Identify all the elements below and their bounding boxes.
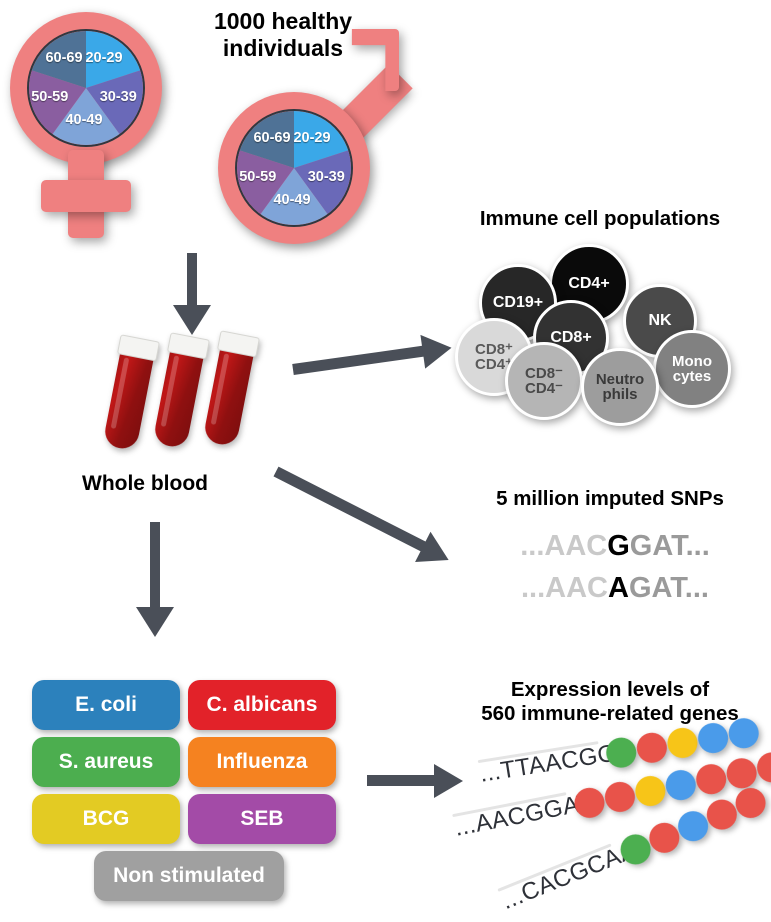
- whole-blood-tubes: [98, 330, 298, 465]
- strand-bead: [633, 773, 668, 808]
- immune-cell-neutrophils: Neutro phils: [581, 348, 659, 426]
- female-pie-label-20-29: 20-29: [85, 50, 122, 66]
- stimulus-e-coli[interactable]: E. coli: [32, 680, 180, 730]
- female-pie-label-60-69: 60-69: [45, 50, 82, 66]
- arrow-blood-to-immune-shaft: [292, 345, 426, 375]
- strand-sequence-text: ...AACGGAT: [452, 789, 594, 843]
- stimulus-influenza[interactable]: Influenza: [188, 737, 336, 787]
- stimulus-s-aureus[interactable]: S. aureus: [32, 737, 180, 787]
- snp-sequence-block: ...AACGGAT... ...AACAGAT...: [470, 530, 760, 620]
- snp-variant-allele: A: [608, 572, 629, 604]
- male-pie-label-50-59: 50-59: [239, 169, 276, 185]
- blood-tube: [102, 335, 157, 451]
- snp-sequence-prefix: ...AAC: [520, 530, 607, 562]
- stimuli-panel: E. coliC. albicansS. aureusInfluenzaBCGS…: [32, 680, 342, 890]
- blood-tube: [152, 333, 207, 449]
- male-pie-label-60-69: 60-69: [253, 130, 290, 146]
- blood-tube-body: [102, 349, 154, 452]
- strand-bead: [727, 716, 761, 750]
- male-age-pie-chart: [235, 109, 353, 227]
- arrow-stimuli-to-expression: [367, 775, 462, 786]
- stimulus-c-albicans[interactable]: C. albicans: [188, 680, 336, 730]
- strand-bead: [696, 721, 730, 755]
- immune-cell-monocytes: Mono cytes: [653, 330, 731, 408]
- blood-tube-body: [202, 345, 254, 448]
- male-pie-label-30-39: 30-39: [308, 169, 345, 185]
- stimulus-bcg[interactable]: BCG: [32, 794, 180, 844]
- female-pie-label-50-59: 50-59: [31, 89, 68, 105]
- arrow-stimuli-to-expression-shaft: [367, 775, 437, 786]
- strand-sequence-text: ...CACGCAA: [498, 837, 641, 916]
- blood-tube-body: [152, 347, 204, 450]
- immune-cell-cd8-cd4-: CD8⁻ CD4⁻: [505, 342, 583, 420]
- arrow-blood-to-immune-head: [420, 330, 453, 368]
- male-pie-label-20-29: 20-29: [293, 130, 330, 146]
- strand-bead: [694, 762, 729, 797]
- snp-sequence-prefix: ...AAC: [521, 572, 608, 604]
- snp-sequence-suffix: GAT...: [630, 530, 710, 562]
- female-age-pie-chart: [27, 29, 145, 147]
- arrow-blood-to-stimuli-head: [136, 607, 174, 637]
- snp-sequence-row: ...AACGGAT...: [470, 530, 760, 563]
- female-symbol-crossbar: [41, 180, 131, 212]
- strand-bead: [635, 731, 669, 765]
- study-design-diagram: 1000 healthy individuals 20-2930-3940-49…: [0, 0, 771, 922]
- arrow-blood-to-stimuli-shaft: [150, 522, 160, 612]
- male-symbol-arrowhead: [337, 29, 399, 91]
- strand-bead: [663, 768, 698, 803]
- snp-sequence-row: ...AACAGAT...: [470, 572, 760, 605]
- stimulus-seb[interactable]: SEB: [188, 794, 336, 844]
- arrow-blood-to-snps: [274, 467, 453, 565]
- snp-variant-allele: G: [607, 530, 630, 562]
- stimulus-non-stimulated[interactable]: Non stimulated: [94, 851, 284, 901]
- female-pie-label-40-49: 40-49: [65, 112, 102, 128]
- snp-sequence-suffix: GAT...: [629, 572, 709, 604]
- arrow-individuals-to-blood-shaft: [187, 253, 197, 310]
- strand-sequence-text: ...TTAACGG: [478, 740, 619, 789]
- arrow-blood-to-immune: [292, 342, 452, 375]
- blood-tube: [202, 331, 257, 447]
- section-title-imputed-snps: 5 million imputed SNPs: [460, 487, 760, 511]
- arrow-blood-to-snps-head: [415, 531, 456, 574]
- male-pie-label-40-49: 40-49: [273, 192, 310, 208]
- gene-expression-strands: ...TTAACGG...AACGGAT...CACGCAA: [455, 740, 771, 910]
- whole-blood-label: Whole blood: [82, 472, 282, 496]
- arrow-blood-to-snps-shaft: [274, 467, 429, 553]
- strand-bead: [602, 779, 637, 814]
- female-pie-label-30-39: 30-39: [100, 89, 137, 105]
- strand-bead: [665, 726, 699, 760]
- section-title-immune-cell-populations: Immune cell populations: [450, 207, 750, 231]
- immune-cell-population-cluster: CD4+CD19+NKCD8+CD8⁺ CD4⁺Mono cytesCD8⁻ C…: [455, 238, 765, 418]
